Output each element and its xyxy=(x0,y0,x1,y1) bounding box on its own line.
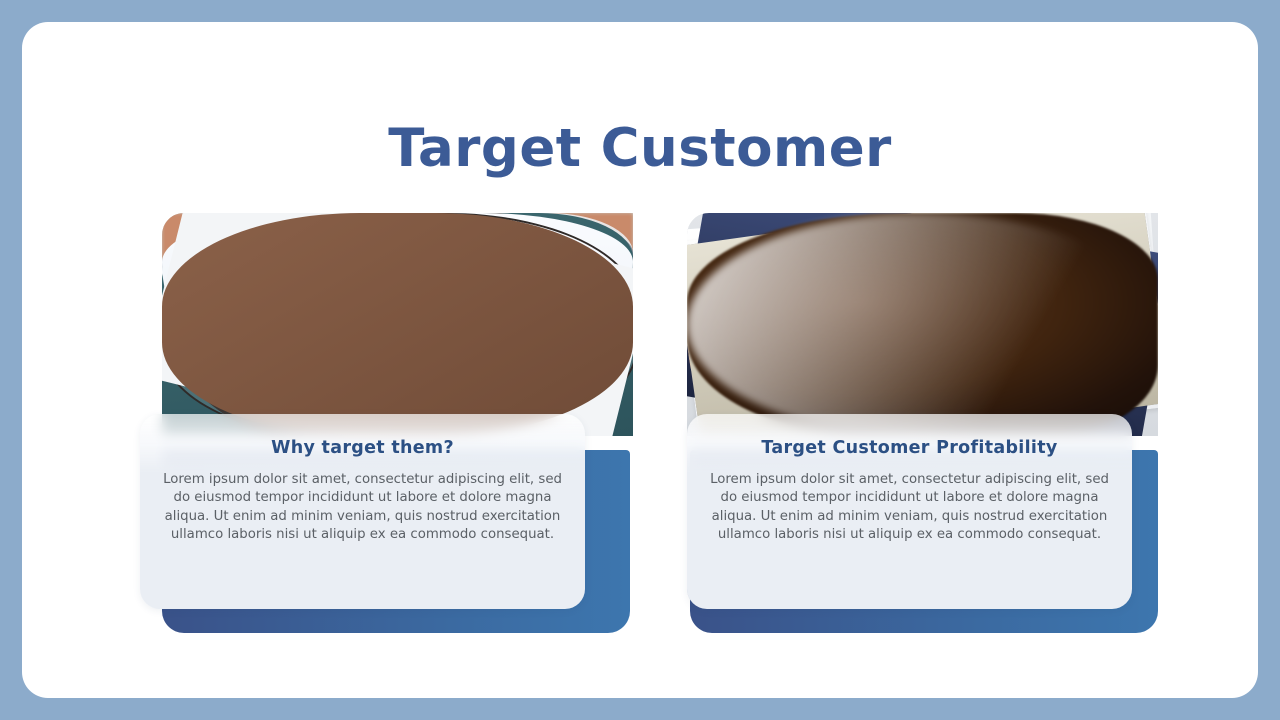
card-body: Lorem ipsum dolor sit amet, consectetur … xyxy=(709,471,1110,545)
slide-canvas: Target Customer xyxy=(22,22,1258,698)
photo-doctor-reviewing-documents-with-patient xyxy=(687,213,1158,436)
info-card: Target Customer Profitability Lorem ipsu… xyxy=(687,414,1132,609)
card-body: Lorem ipsum dolor sit amet, consectetur … xyxy=(162,471,563,545)
content-column-left: Why target them? Lorem ipsum dolor sit a… xyxy=(140,213,638,633)
card-heading: Target Customer Profitability xyxy=(687,438,1132,458)
info-card: Why target them? Lorem ipsum dolor sit a… xyxy=(140,414,585,609)
page-title: Target Customer xyxy=(22,118,1258,179)
card-heading: Why target them? xyxy=(140,438,585,458)
patient-shoulder-icon xyxy=(687,213,1158,436)
photo-masked-clinician-swabbing-child xyxy=(162,213,633,436)
clinician-hand-icon xyxy=(162,213,633,436)
content-column-right: Target Customer Profitability Lorem ipsu… xyxy=(665,213,1163,633)
slide-frame: Target Customer xyxy=(0,0,1280,720)
